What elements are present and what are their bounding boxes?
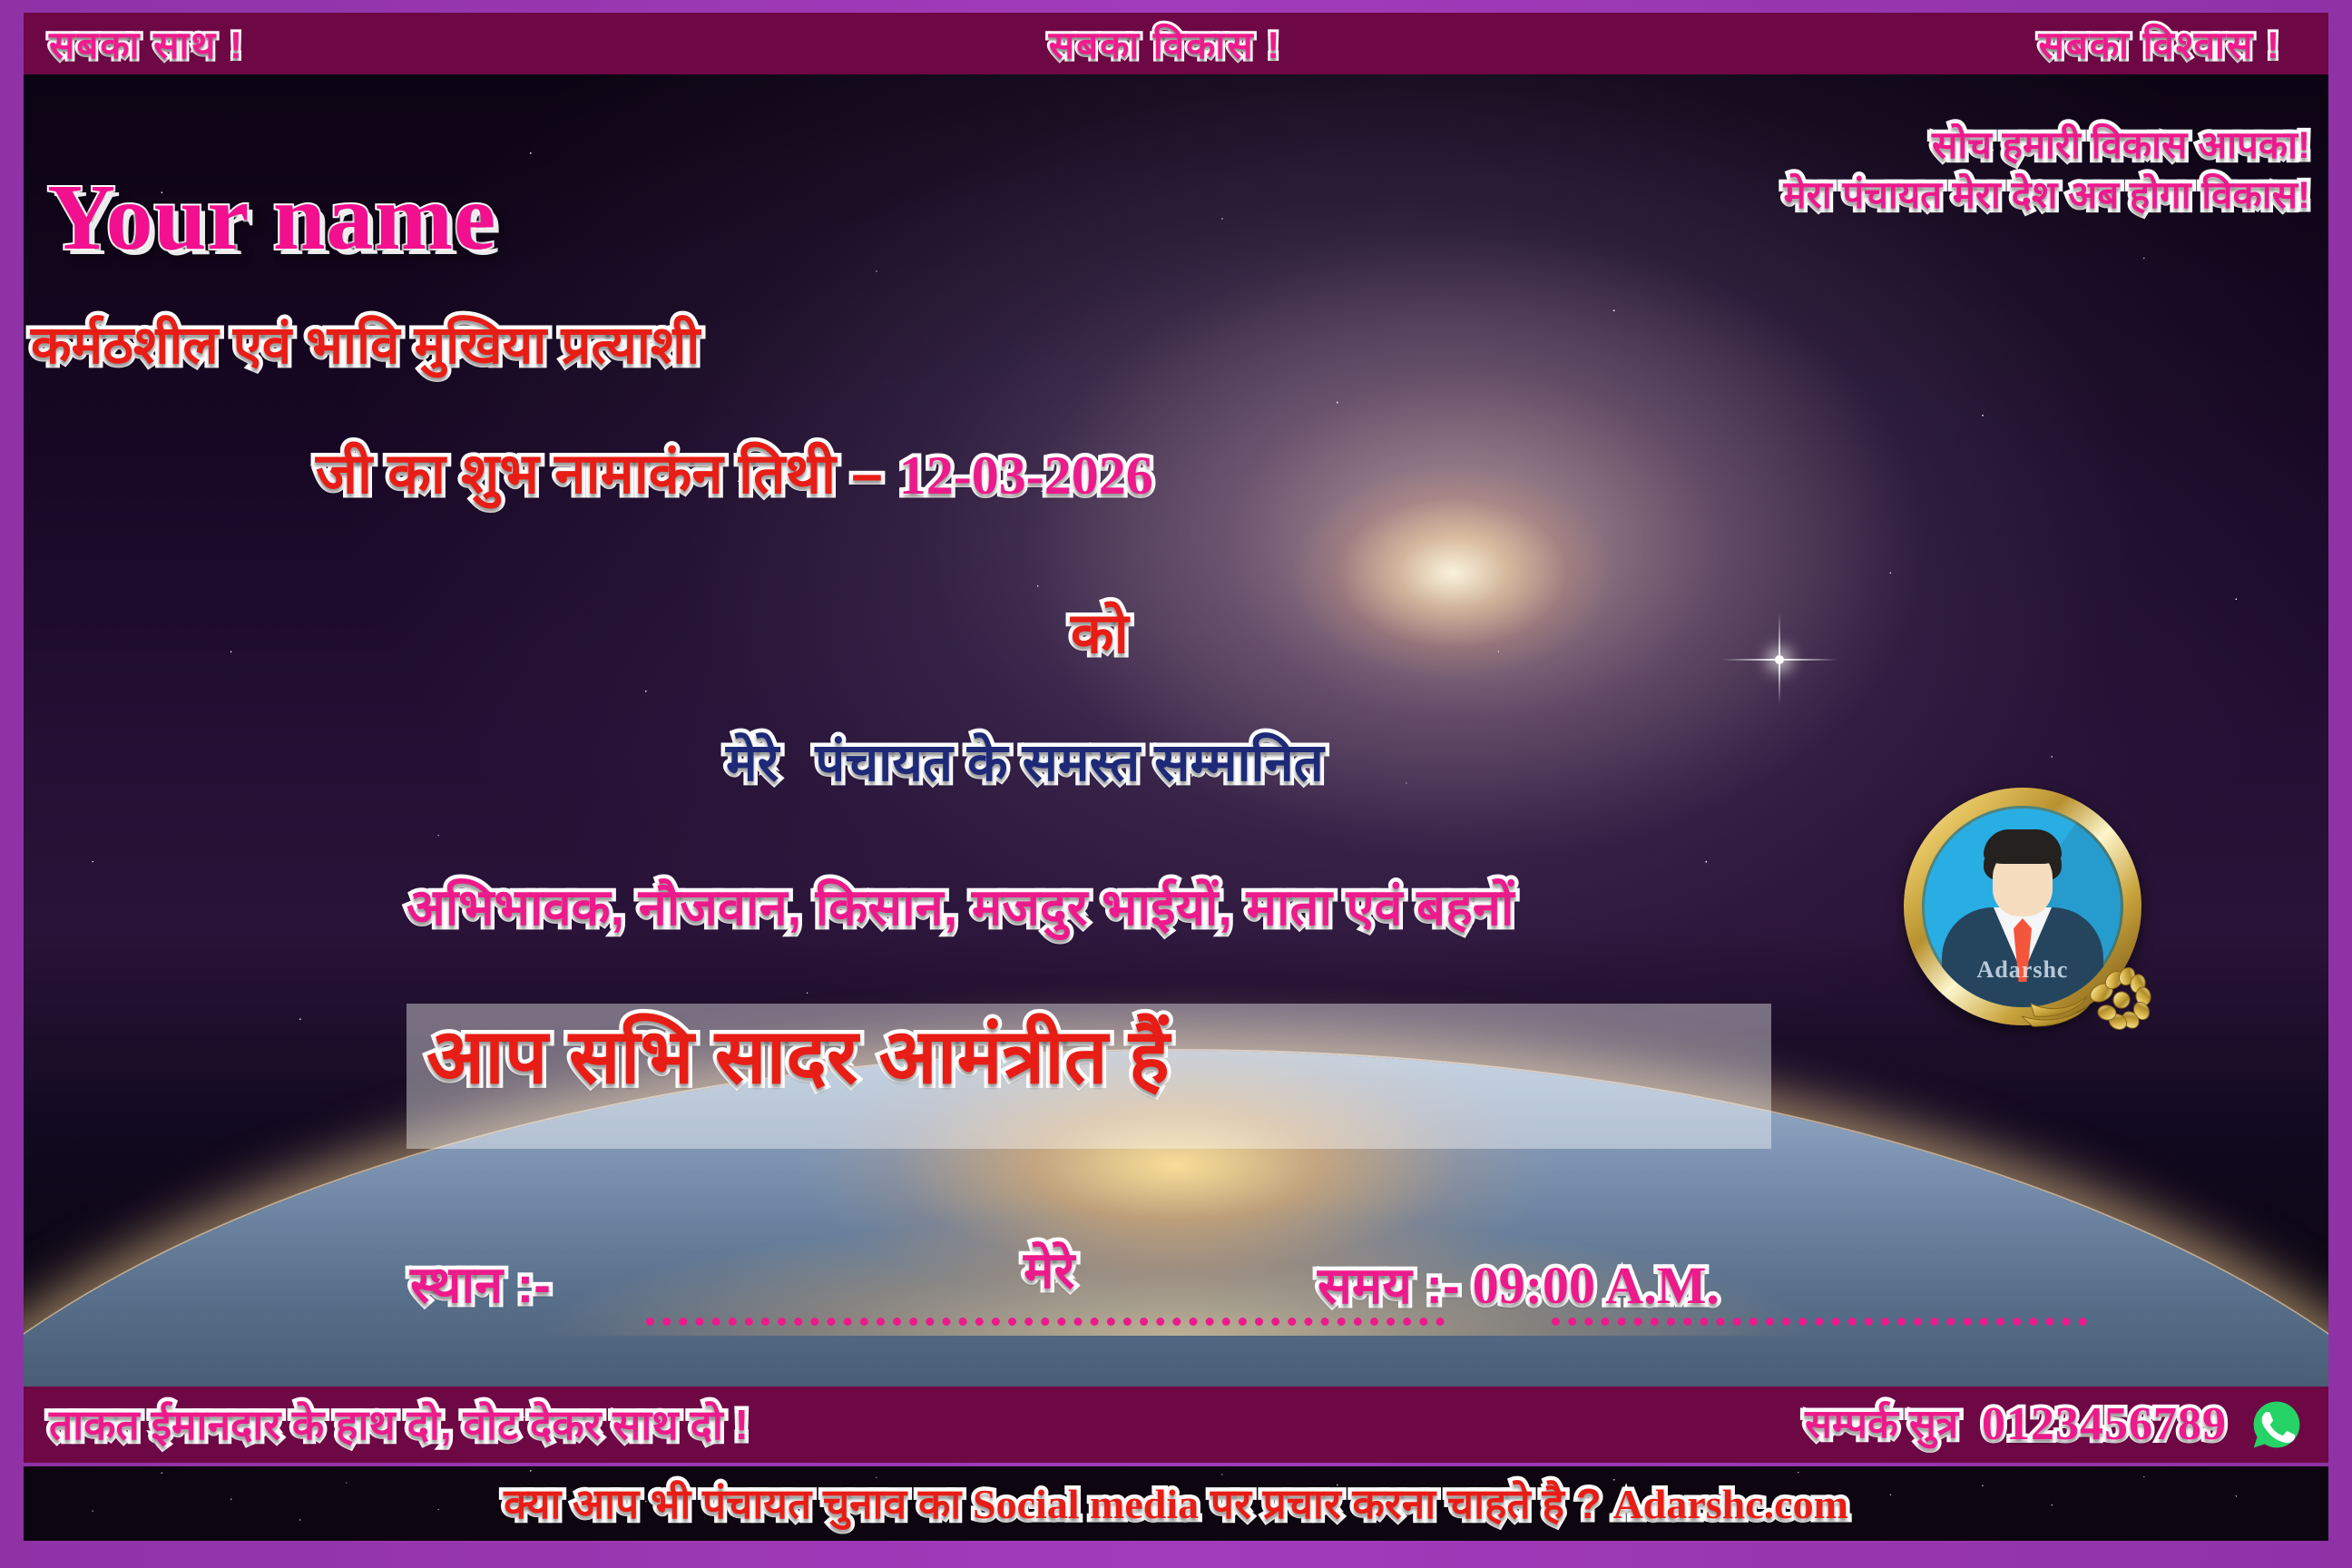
ko-word: को bbox=[1071, 606, 1129, 662]
right-slogan-line-1: सोच हमारी विकास आपका! bbox=[1784, 123, 2310, 166]
bright-star-icon bbox=[1775, 655, 1784, 664]
time-label: समय :- bbox=[1318, 1260, 1460, 1311]
time-value: 09:00 A.M. bbox=[1473, 1259, 1720, 1312]
audience-line-1-text: पंचायत के समस्त सम्मानित bbox=[815, 737, 1323, 789]
person-avatar-icon bbox=[1984, 829, 2062, 916]
date-value: 12-03-2026 bbox=[899, 448, 1153, 503]
poster-stage bbox=[24, 74, 2328, 1387]
gold-floral-ornament-icon bbox=[2018, 940, 2154, 1034]
candidate-photo-badge[interactable]: Adarshc bbox=[1904, 788, 2141, 1025]
audience-line-2: अभिभावक, नौजवान, किसान, मजदुर भाईयों, मा… bbox=[407, 882, 1514, 933]
candidate-name: Your name bbox=[47, 171, 496, 265]
top-slogan-right-slot: सबका विश्वास ! bbox=[1537, 18, 2328, 70]
time-underline bbox=[1552, 1318, 2087, 1326]
promo-text: क्या आप भी पंचायत चुनाव का Social media … bbox=[504, 1483, 1848, 1525]
right-slogan-line-2: मेरा पंचायत मेरा देश अब होगा विकास! bbox=[1784, 173, 2310, 216]
audience-mere-word: मेरे bbox=[726, 737, 779, 789]
avatar-hair-front bbox=[1984, 829, 2062, 864]
promo-website[interactable]: Adarshc.com bbox=[1613, 1481, 1848, 1527]
date-line: जी का शुभ नामाकंन तिथी – 12-03-2026 bbox=[316, 446, 1153, 503]
election-invitation-poster: सबका साथ ! सबका विकास ! सबका विश्वास ! स… bbox=[0, 0, 2352, 1568]
top-slogan-bar: सबका साथ ! सबका विकास ! सबका विश्वास ! bbox=[24, 13, 2328, 74]
candidate-tagline: कर्मठशील एवं भावि मुखिया प्रत्याशी bbox=[31, 319, 700, 372]
top-slogan-left-slot: सबका साथ ! bbox=[24, 18, 793, 70]
footer-contact-block: सम्पर्क सुत्र 0123456789 bbox=[1805, 1398, 2303, 1451]
date-label: जी का शुभ नामाकंन तिथी – bbox=[316, 446, 883, 503]
venue-label: स्थान :- bbox=[410, 1259, 551, 1310]
promo-text-after: पर प्रचार करना चाहते है ? bbox=[1199, 1480, 1612, 1527]
promo-strip: क्या आप भी पंचायत चुनाव का Social media … bbox=[24, 1466, 2328, 1541]
venue-mere-word: मेरे bbox=[1024, 1245, 1074, 1296]
top-slogan-left: सबका साथ ! bbox=[49, 18, 244, 70]
top-slogan-center-slot: सबका विकास ! bbox=[793, 18, 1537, 70]
top-slogan-right: सबका विश्वास ! bbox=[2038, 18, 2281, 70]
footer-bar: ताकत ईमानदार के हाथ दो, वोट देकर साथ दो … bbox=[24, 1387, 2328, 1463]
right-slogan-block: सोच हमारी विकास आपका! मेरा पंचायत मेरा द… bbox=[1784, 123, 2310, 216]
venue-blank-line[interactable] bbox=[646, 1318, 1445, 1326]
top-slogan-center: सबका विकास ! bbox=[1049, 18, 1282, 70]
whatsapp-icon[interactable] bbox=[2250, 1398, 2303, 1451]
invitation-text: आप सभि सादर आमंत्रीत हैं bbox=[426, 1018, 1170, 1094]
audience-line-1: मेरे पंचायत के समस्त सम्मानित bbox=[726, 737, 1324, 789]
time-line: समय :- 09:00 A.M. bbox=[1318, 1259, 1720, 1312]
promo-text-before: क्या आप भी पंचायत चुनाव का bbox=[504, 1480, 973, 1527]
contact-label: सम्पर्क सुत्र bbox=[1805, 1405, 1958, 1445]
footer-slogan: ताकत ईमानदार के हाथ दो, वोट देकर साथ दो … bbox=[49, 1404, 749, 1445]
contact-number[interactable]: 0123456789 bbox=[1982, 1401, 2227, 1448]
promo-text-english: Social media bbox=[973, 1481, 1199, 1527]
